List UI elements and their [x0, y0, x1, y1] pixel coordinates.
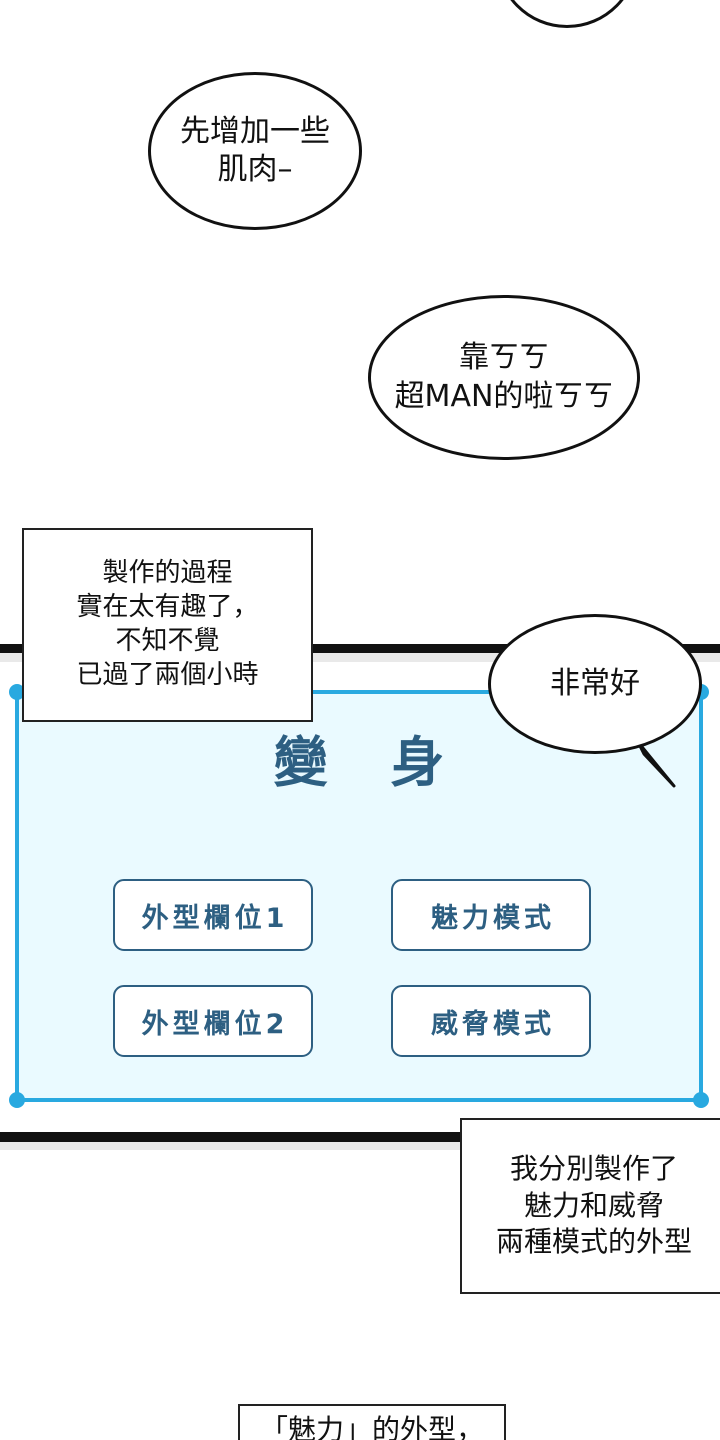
- button-appearance-slot-2-label: 外型欄位2: [138, 1002, 289, 1041]
- comic-page: 先增加一些 肌肉– 靠ㄎㄎ 超MAN的啦ㄎㄎ 變 身 外型欄位1 魅力模式 外型…: [0, 0, 720, 1440]
- bubble-very-good-group: 非常好: [488, 614, 720, 794]
- bubble-super-man-text: 靠ㄎㄎ 超MAN的啦ㄎㄎ: [395, 339, 614, 416]
- button-threat-mode[interactable]: 威脅模式: [391, 985, 591, 1057]
- narration-charm-look: 「魅力」的外型，: [238, 1404, 506, 1440]
- selection-handle-bottom-left[interactable]: [9, 1092, 25, 1108]
- button-appearance-slot-1-label: 外型欄位1: [138, 896, 289, 935]
- selection-handle-bottom-right[interactable]: [693, 1092, 709, 1108]
- selection-edge-left[interactable]: [15, 690, 19, 1102]
- button-threat-mode-label: 威脅模式: [427, 1002, 555, 1041]
- button-appearance-slot-1[interactable]: 外型欄位1: [113, 879, 313, 951]
- narration-two-modes-text: 我分別製作了 魅力和威脅 兩種模式的外型: [496, 1151, 692, 1260]
- button-charm-mode[interactable]: 魅力模式: [391, 879, 591, 951]
- narration-making-process-text: 製作的過程 實在太有趣了， 不知不覺 已過了兩個小時: [76, 557, 258, 692]
- narration-making-process: 製作的過程 實在太有趣了， 不知不覺 已過了兩個小時: [22, 528, 313, 722]
- bubble-super-man: 靠ㄎㄎ 超MAN的啦ㄎㄎ: [368, 295, 640, 460]
- button-appearance-slot-2[interactable]: 外型欄位2: [113, 985, 313, 1057]
- bubble-top-cutoff: [495, 0, 639, 28]
- selection-edge-bottom[interactable]: [17, 1098, 701, 1102]
- button-charm-mode-label: 魅力模式: [427, 896, 555, 935]
- narration-charm-look-text: 「魅力」的外型，: [260, 1412, 484, 1440]
- narration-two-modes: 我分別製作了 魅力和威脅 兩種模式的外型: [460, 1118, 720, 1294]
- bubble-very-good: 非常好: [488, 614, 702, 754]
- bubble-muscle: 先增加一些 肌肉–: [148, 72, 362, 230]
- bubble-very-good-text: 非常好: [550, 665, 640, 703]
- bubble-muscle-text: 先增加一些 肌肉–: [180, 113, 330, 190]
